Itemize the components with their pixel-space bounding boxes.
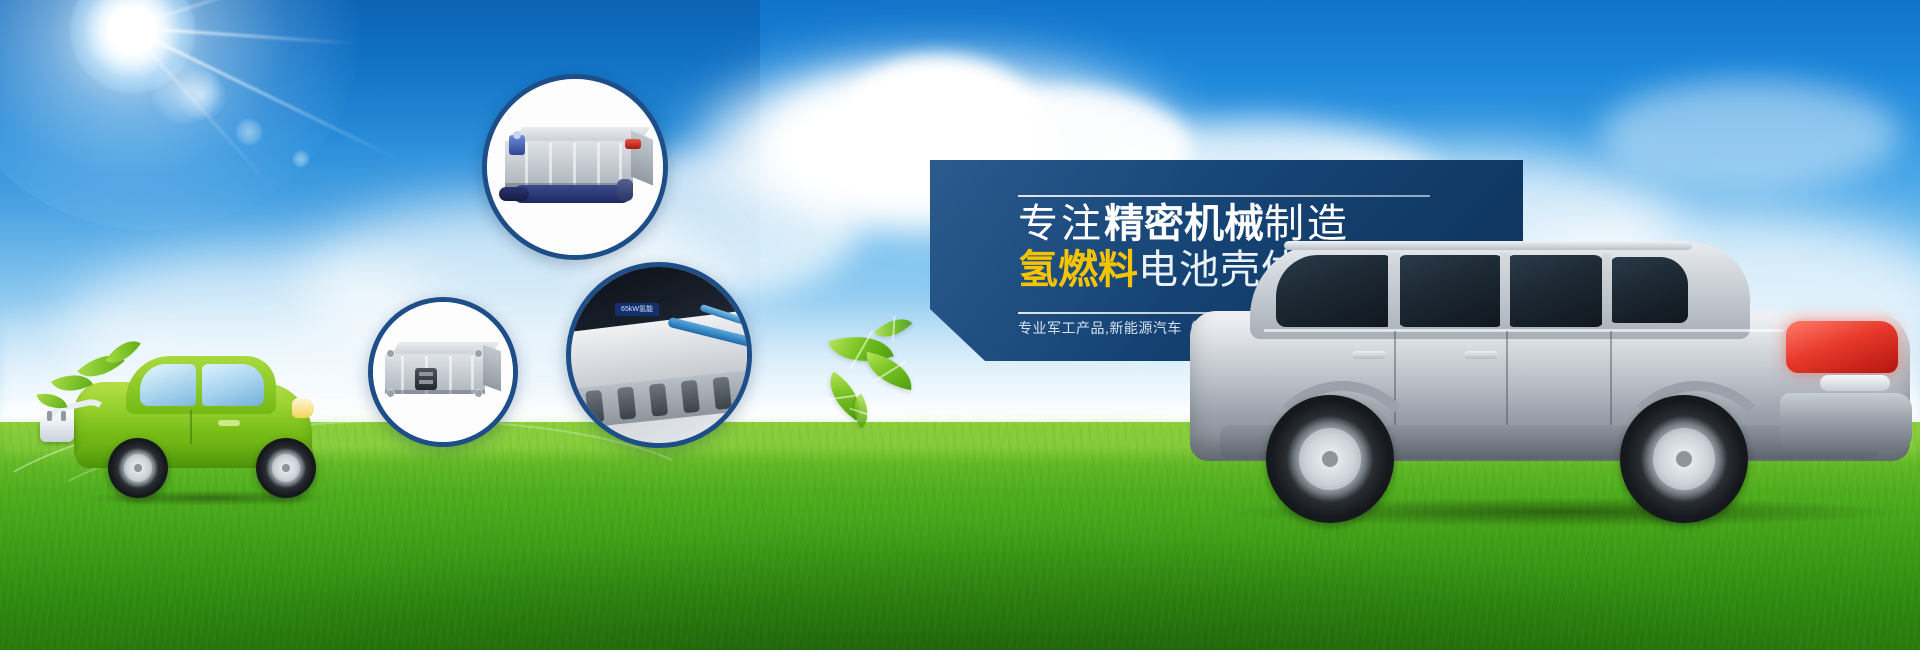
suv-door-seam (1610, 331, 1612, 435)
headline-seg-1: 专注 (1018, 202, 1104, 246)
suv-d-pillar (1602, 253, 1612, 327)
panel-rule-top (1018, 195, 1430, 197)
battery-housing-illustration (385, 342, 503, 404)
suv-quarter-window (1610, 257, 1688, 323)
suv-roof-rail (1284, 241, 1692, 250)
product-photo-battery-tray[interactable]: 65kW氢能 (566, 262, 752, 448)
product-photo-fuel-cell-stack[interactable] (482, 74, 668, 260)
car-side-window (202, 364, 264, 406)
lens-flare (176, 70, 226, 120)
car-headlight (292, 398, 314, 418)
tray-label-plate: 65kW氢能 (615, 303, 659, 316)
car-door-handle (218, 420, 240, 426)
headline-accent-text: 氢燃料 (1018, 248, 1138, 292)
suv-rear-window (1508, 255, 1604, 327)
silver-suv (1180, 225, 1920, 525)
car-wheel-front (108, 438, 168, 498)
fuel-cell-stack-illustration (505, 127, 655, 203)
suv-front-window (1398, 255, 1502, 327)
suv-rear-bumper (1780, 393, 1912, 451)
suv-taillight (1786, 321, 1898, 373)
charging-plug-icon (40, 418, 74, 442)
suv-door-seam (1506, 331, 1508, 435)
suv-c-pillar (1500, 253, 1510, 331)
suv-windshield (1276, 255, 1392, 327)
car-windshield (140, 364, 196, 406)
suv-door-handle (1464, 351, 1498, 359)
cloud (1600, 80, 1900, 190)
suv-wheel-rear (1620, 395, 1748, 523)
hero-banner: 65kW氢能 专注精密机械制造 氢燃料电池壳体零部件 专业军工产品,新能源汽车（… (0, 0, 1920, 650)
suv-wheel-front (1266, 395, 1394, 523)
lens-flare (292, 150, 310, 168)
suv-rear-trim (1820, 375, 1890, 391)
car-wheel-rear (256, 438, 316, 498)
product-photo-battery-housing[interactable] (368, 297, 518, 447)
suv-beltline (1264, 329, 1784, 332)
green-electric-car (40, 340, 350, 510)
lens-flare (235, 118, 263, 146)
tray-label-text: 65kW氢能 (621, 306, 653, 313)
suv-door-handle (1352, 351, 1386, 359)
suv-b-pillar (1388, 253, 1400, 331)
